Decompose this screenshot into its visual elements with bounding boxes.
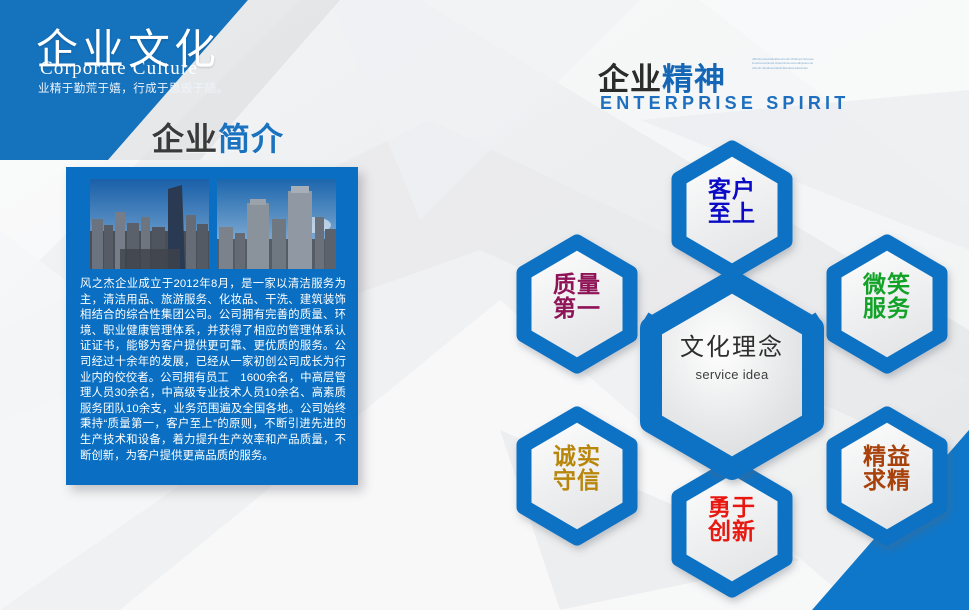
intro-title-dark: 企业 — [152, 121, 218, 157]
intro-section-title: 企业简介 — [152, 114, 284, 160]
intro-body-text: 风之杰企业成立于2012年8月，是一家以清洁服务为主，清洁用品、旅游服务、化妆品… — [80, 277, 346, 464]
city-skyline-photo-1 — [90, 179, 209, 269]
banner-subtitle: 业精于勤荒于嬉，行成于思毁于随。 — [38, 80, 228, 96]
intro-title-blue: 简介 — [218, 121, 284, 157]
spirit-title-dark: 企业 — [598, 62, 662, 97]
poster-canvas: 企业文化 Corporate Culture 业精于勤荒于嬉，行成于思毁于随。 … — [0, 0, 969, 610]
city-towers-photo-2 — [217, 179, 336, 269]
intro-card: 风之杰企业成立于2012年8月，是一家以清洁服务为主，清洁用品、旅游服务、化妆品… — [66, 167, 358, 485]
spirit-title-en: ENTERPRISE SPIRIT — [600, 93, 849, 114]
banner-title-en: Corporate Culture — [40, 58, 198, 80]
intro-photo-row — [90, 179, 336, 269]
spirit-title-blue: 精神 — [662, 62, 726, 97]
spirit-decorative-microtext: dfihdizuriwoblldskfiwoiruolkl dfsifiusrt… — [752, 57, 814, 70]
culture-hexagon-diagram: 客户 至上 微笑 服务 精益 求精 勇于 创新 诚实 守信 质量 第一 文化理念… — [495, 118, 969, 610]
